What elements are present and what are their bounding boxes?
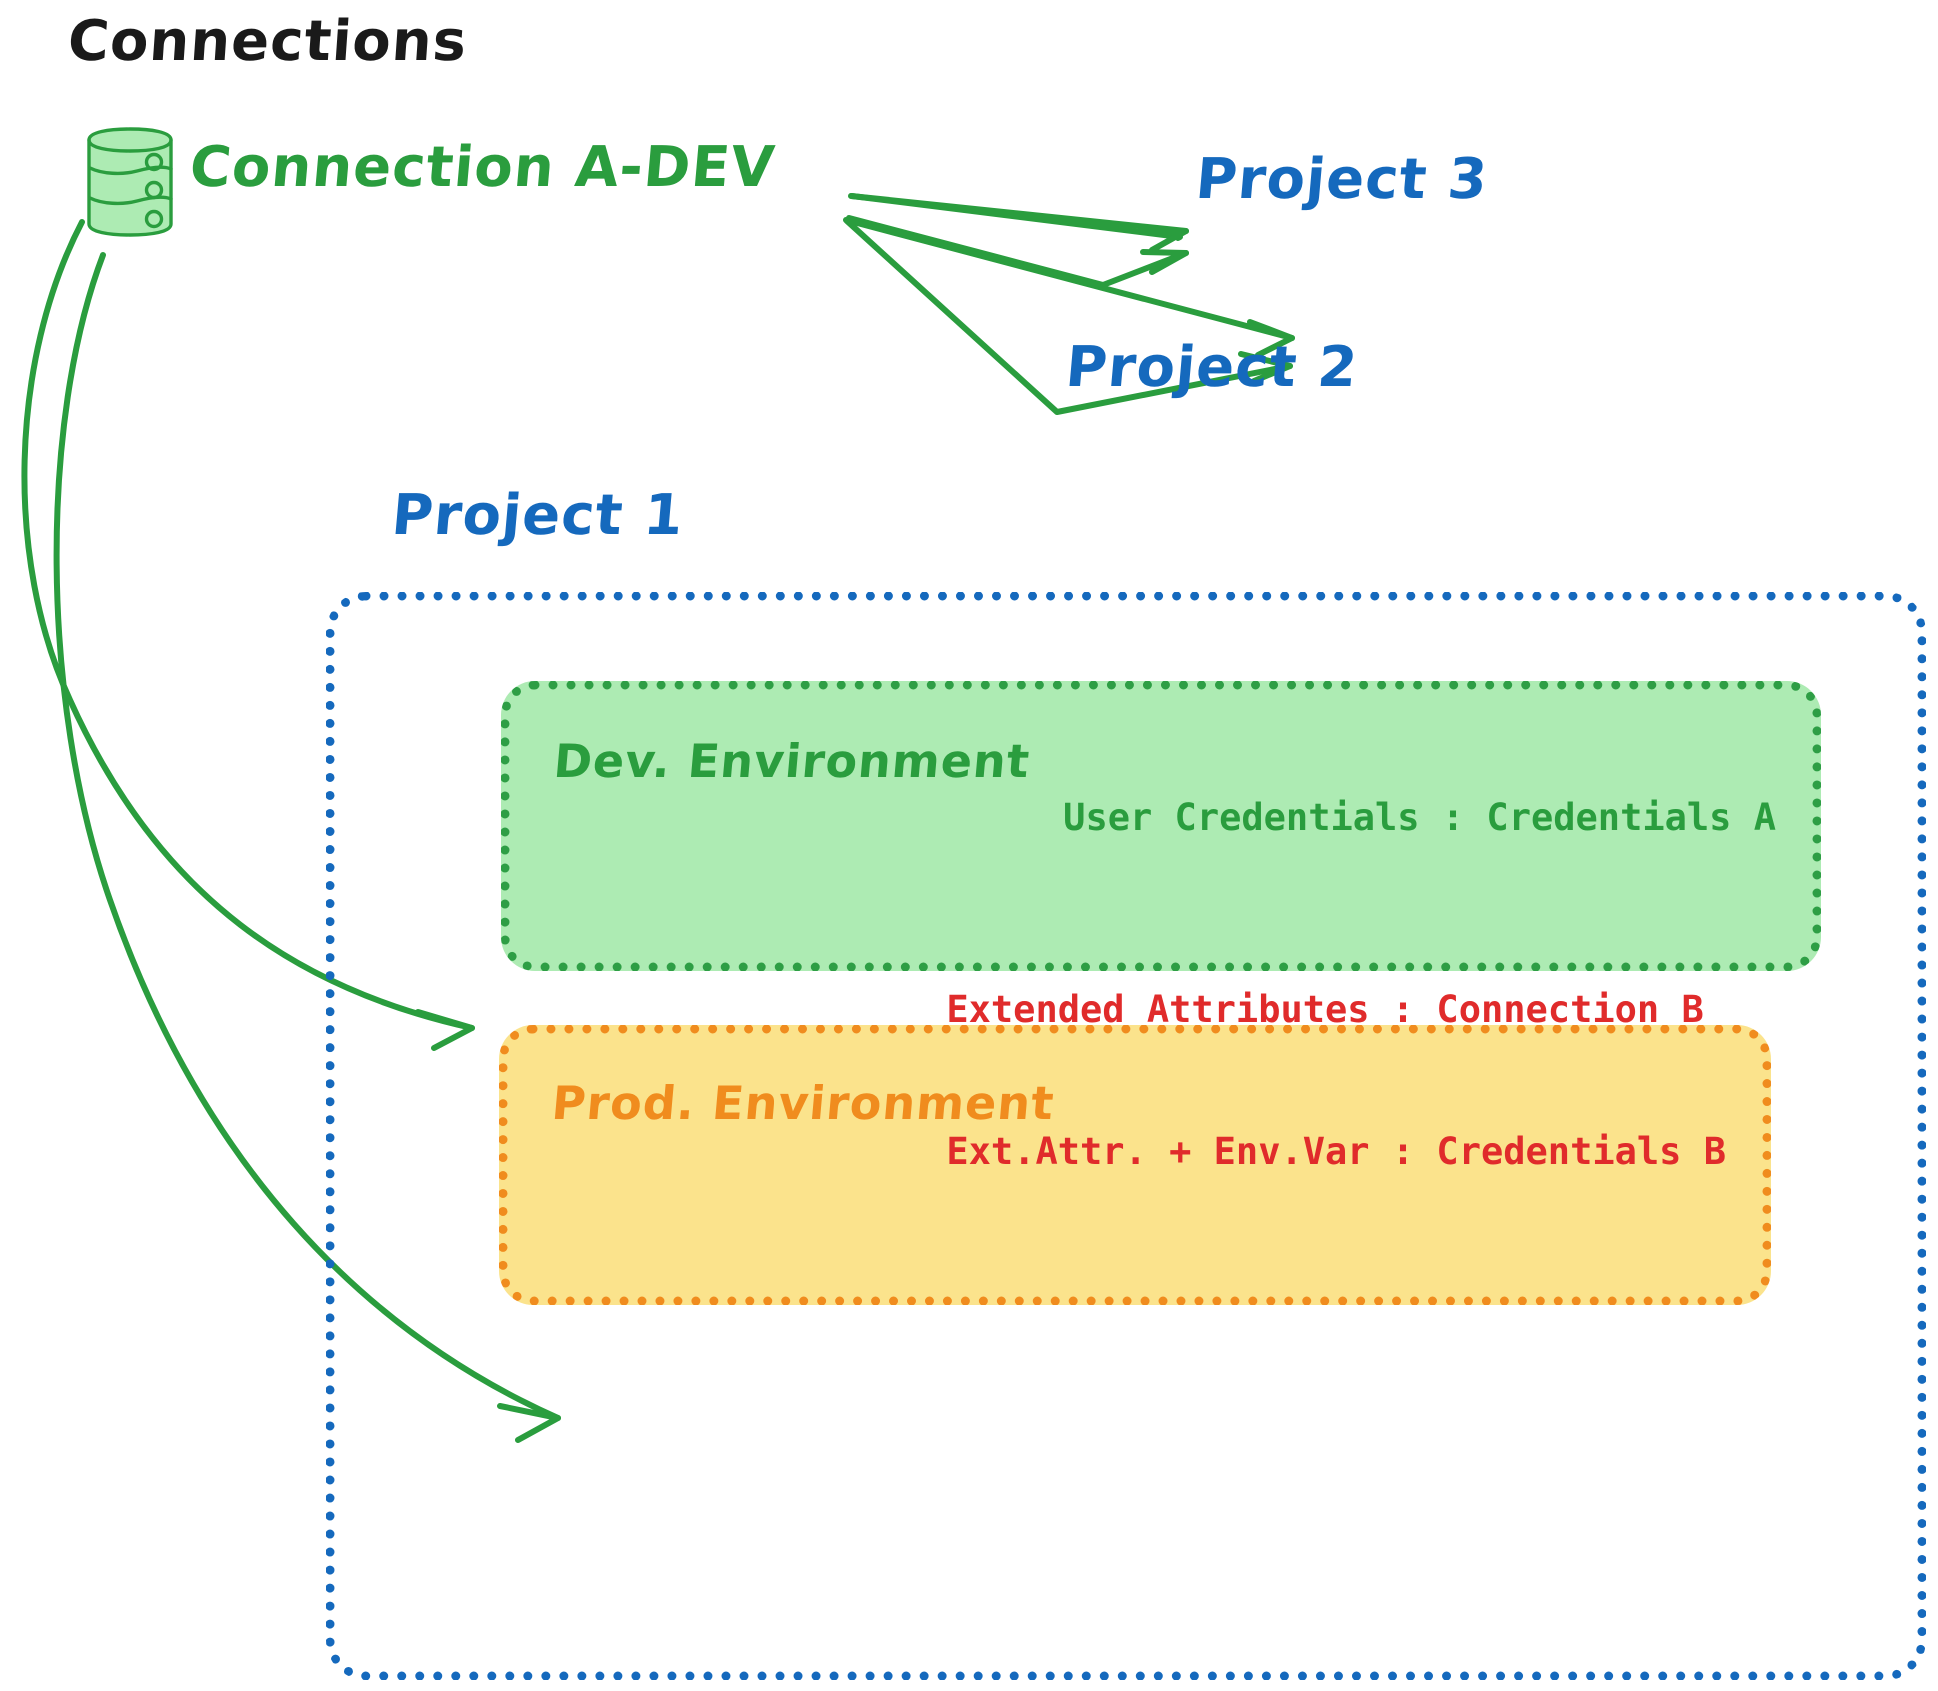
prod-environment-rows: Extended Attributes : Connection B Ext.A… [946,891,1726,1270]
project-2-label: Project 2 [1064,340,1361,396]
prod-row-1: Ext.Attr. + Env.Var : Credentials B [946,1128,1726,1175]
dev-row-0: User Credentials : Credentials A [1063,794,1776,841]
dev-environment-title: Dev. Environment [552,738,1032,784]
prod-environment-container: Prod. Environment Extended Attributes : … [499,1025,1771,1305]
arrow-connection-to-project3-a [851,196,1186,250]
connection-a-dev-label: Connection A-DEV [188,140,778,196]
project-1-label: Project 1 [390,488,687,544]
database-cylinder-icon [82,124,178,240]
page-title: Connections [66,14,469,70]
prod-row-0: Extended Attributes : Connection B [946,986,1726,1033]
diagram-canvas: Connections Connection A-DEV [0,0,1938,1691]
project-1-container: Dev. Environment User Credentials : Cred… [326,592,1926,1680]
arrow-connection-to-project3-b [849,218,1186,285]
project-3-label: Project 3 [1194,152,1491,208]
